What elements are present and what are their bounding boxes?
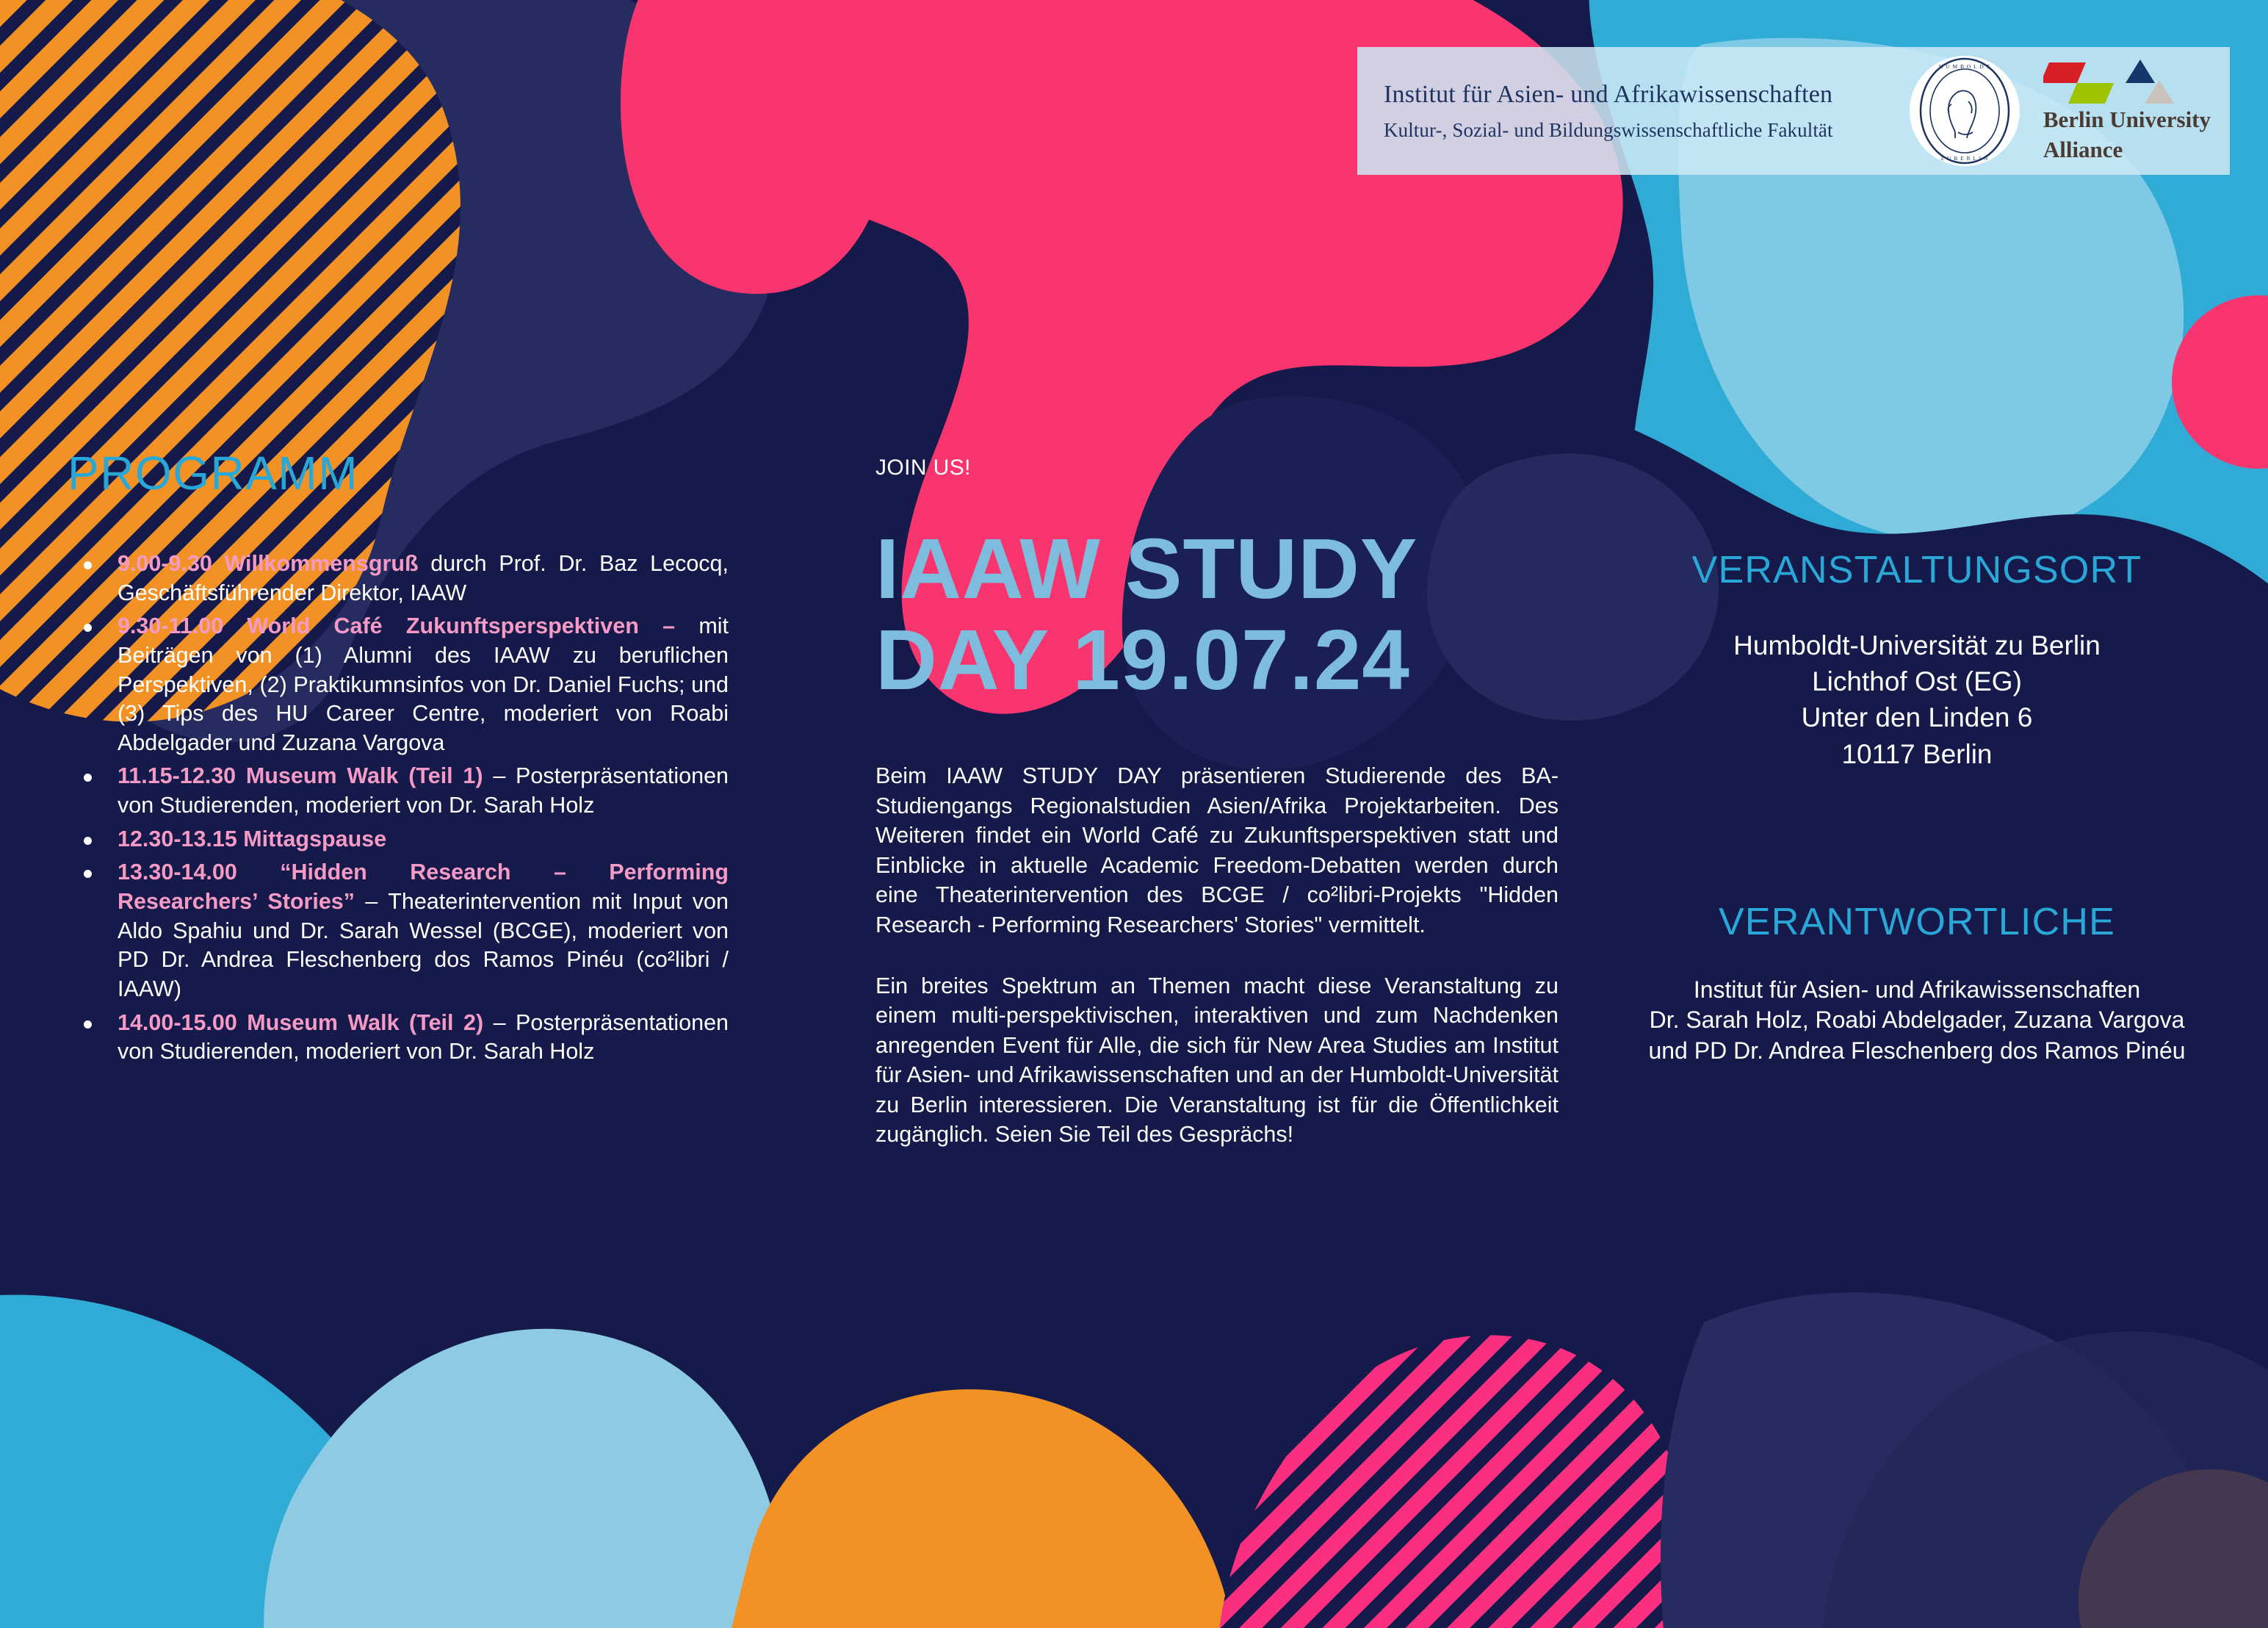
info-column: VERANSTALTUNGSORT Humboldt-Universität z… — [1623, 551, 2211, 1067]
svg-text:H U M B O L D T: H U M B O L D T — [1939, 63, 1990, 70]
programm-item: 9.00-9.30 Willkommensgruß durch Prof. Dr… — [68, 550, 729, 608]
blob-orange-circle-bottomright — [2079, 1469, 2268, 1628]
main-column: JOIN US! IAAW STUDY DAY 19.07.24 Beim IA… — [875, 455, 1559, 1150]
venue-address: Humboldt-Universität zu Berlin Lichthof … — [1623, 627, 2211, 772]
venue-line: 10117 Berlin — [1623, 736, 2211, 772]
blob-pink-striped-bottom — [1216, 1336, 1698, 1628]
programm-list: 9.00-9.30 Willkommensgruß durch Prof. Dr… — [68, 550, 729, 1067]
responsible-persons: Institut für Asien- und Afrikawissenscha… — [1623, 975, 2211, 1067]
bua-mark-icon — [2043, 58, 2183, 104]
programm-item: 12.30-13.15 Mittagspause — [68, 825, 729, 854]
blob-sky-bottomleft — [0, 1294, 485, 1628]
iaaw-institute-logo-text: Institut für Asien- und Afrikawissenscha… — [1384, 81, 1893, 142]
programm-item-time-title: 14.00-15.00 Museum Walk (Teil 2) — [118, 1010, 483, 1035]
programm-item: 14.00-15.00 Museum Walk (Teil 2) – Poste… — [68, 1009, 729, 1067]
humboldt-seal-svg: H U M B O L D T Z U B E R L I N — [1910, 56, 2020, 166]
page-title-line1: IAAW STUDY — [875, 523, 1559, 614]
berlin-university-alliance-logo: Berlin University Alliance — [2036, 58, 2211, 163]
responsible-line: Institut für Asien- und Afrikawissenscha… — [1623, 975, 2211, 1006]
responsible-line: und PD Dr. Andrea Fleschenberg dos Ramos… — [1623, 1036, 2211, 1067]
page-title: IAAW STUDY DAY 19.07.24 — [875, 523, 1559, 705]
poster-canvas: Institut für Asien- und Afrikawissenscha… — [0, 0, 2268, 1628]
programm-column: PROGRAMM 9.00-9.30 Willkommensgruß durch… — [68, 450, 729, 1071]
programm-item: 9.30-11.00 World Café Zukunftsperspektiv… — [68, 612, 729, 757]
blob-pink-top-left-oval — [621, 0, 892, 294]
blob-lightblue-bottomleft — [264, 1329, 786, 1628]
programm-item-time-title: 9.00-9.30 Willkommensgruß — [118, 551, 419, 576]
responsible-line: Dr. Sarah Holz, Roabi Abdelgader, Zuzana… — [1623, 1005, 2211, 1036]
join-us-kicker: JOIN US! — [875, 455, 1559, 480]
venue-line: Humboldt-Universität zu Berlin — [1623, 627, 2211, 663]
humboldt-seal-icon: H U M B O L D T Z U B E R L I N — [1910, 56, 2020, 166]
faculty-name: Kultur-, Sozial- und Bildungswissenschaf… — [1384, 119, 1893, 142]
bua-text-line1: Berlin University — [2043, 107, 2211, 134]
programm-heading: PROGRAMM — [68, 450, 729, 497]
page-title-line2: DAY 19.07.24 — [875, 614, 1559, 705]
programm-item: 13.30-14.00 “Hidden Research – Performin… — [68, 858, 729, 1004]
institute-name: Institut für Asien- und Afrikawissenscha… — [1384, 81, 1893, 109]
programm-item-time-title: 12.30-13.15 Mittagspause — [118, 826, 386, 851]
svg-text:Z U B E R L I N: Z U B E R L I N — [1940, 155, 1988, 162]
programm-item-time-title: 11.15-12.30 Museum Walk (Teil 1) — [118, 763, 483, 788]
blob-orange-bottomcenter — [720, 1389, 1241, 1628]
venue-heading: VERANSTALTUNGSORT — [1623, 551, 2211, 589]
venue-line: Unter den Linden 6 — [1623, 699, 2211, 735]
blob-navy-arc-bottomright — [1819, 1332, 2268, 1628]
programm-item: 11.15-12.30 Museum Walk (Teil 1) – Poste… — [68, 762, 729, 820]
responsible-heading: VERANTWORTLICHE — [1623, 903, 2211, 941]
blob-pink-circle-rightedge — [2172, 295, 2268, 469]
programm-item-time-title: 9.30-11.00 World Café Zukunftsperspektiv… — [118, 613, 675, 638]
venue-line: Lichthof Ost (EG) — [1623, 663, 2211, 699]
description-paragraph-1: Beim IAAW STUDY DAY präsentieren Studier… — [875, 761, 1559, 940]
description-paragraph-2: Ein breites Spektrum an Themen macht die… — [875, 971, 1559, 1150]
logo-strip: Institut für Asien- und Afrikawissenscha… — [1357, 47, 2230, 175]
bua-text-line2: Alliance — [2043, 137, 2211, 164]
blob-navy-light-bottomright — [1661, 1292, 2242, 1628]
